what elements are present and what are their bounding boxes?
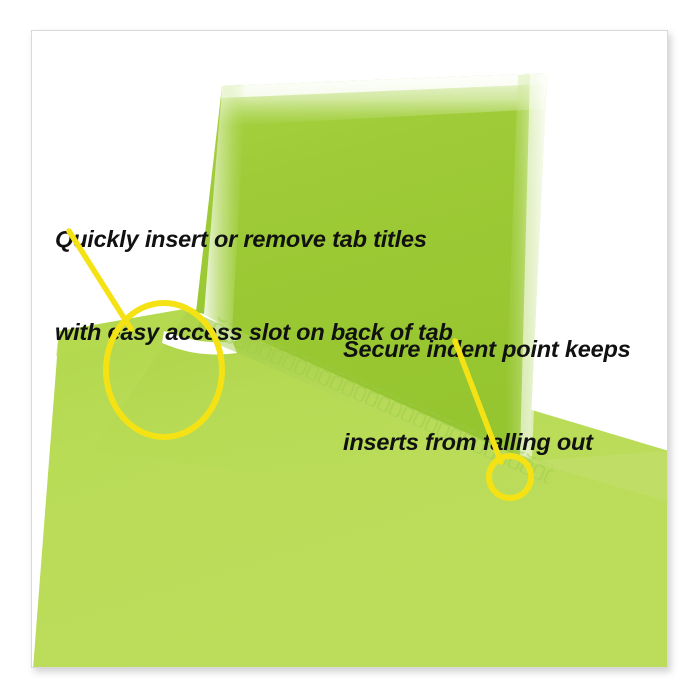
callout-left-line1: Quickly insert or remove tab titles bbox=[55, 224, 453, 255]
screenshot-canvas: Inserts Won’t Fall Out bbox=[0, 0, 700, 700]
callout-right-line1: Secure indent point keeps bbox=[343, 334, 631, 365]
callout-right-line2: inserts from falling out bbox=[343, 427, 631, 458]
callout-right-text: Secure indent point keeps inserts from f… bbox=[343, 272, 631, 520]
